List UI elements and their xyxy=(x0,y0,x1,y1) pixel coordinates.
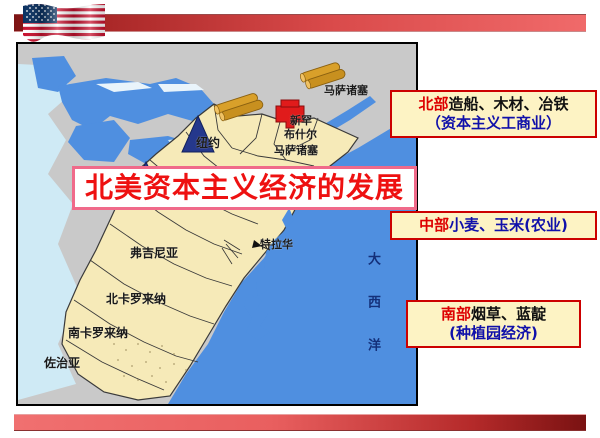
map-label-south-carolina: 南卡罗来纳 xyxy=(68,324,128,341)
callout-south: 南部烟草、蓝靛 (种植园经济) xyxy=(406,300,581,348)
callout-north-line1: 北部造船、木材、冶铁 xyxy=(396,95,591,114)
map-label-north-carolina: 北卡罗来纳 xyxy=(106,290,166,307)
page-title: 北美资本主义经济的发展 xyxy=(85,174,404,202)
bottom-decor-bar xyxy=(14,414,586,431)
callout-middle: 中部小麦、玉米(农业) xyxy=(390,211,597,240)
map-label-new-york: 纽约 xyxy=(196,134,220,151)
callout-north-region: 北部 xyxy=(418,95,448,113)
callout-middle-line1: 中部小麦、玉米(农业) xyxy=(396,216,591,235)
map-label-massachusetts-south: 马萨诸塞 xyxy=(274,142,318,158)
callout-south-region: 南部 xyxy=(441,305,471,323)
map-label-georgia: 佐治亚 xyxy=(44,354,80,371)
us-flag-svg xyxy=(23,2,105,42)
callout-south-note: (种植园经济) xyxy=(412,324,575,343)
map-label-massachusetts-north: 马萨诸塞 xyxy=(324,82,368,98)
callout-north-note: （资本主义工商业） xyxy=(396,114,591,133)
map-label-atlantic-ocean: 大西洋 xyxy=(350,252,394,381)
us-flag-icon xyxy=(23,2,105,42)
map-label-new-hampshire-line2: 布什尔 xyxy=(284,126,317,142)
map-label-delaware: 特拉华 xyxy=(260,236,293,252)
colonial-america-map: 马萨诸塞 新罕 布什尔 马萨诸塞 纽约 特拉华 弗吉尼亚 北卡罗来纳 南卡罗来纳… xyxy=(16,42,418,406)
callout-middle-detail: 小麦、玉米(农业) xyxy=(449,216,568,234)
callout-south-detail: 烟草、蓝靛 xyxy=(471,305,546,323)
callout-north: 北部造船、木材、冶铁 （资本主义工商业） xyxy=(390,90,597,138)
callout-south-line1: 南部烟草、蓝靛 xyxy=(412,305,575,324)
callout-north-detail: 造船、木材、冶铁 xyxy=(449,95,569,113)
callout-middle-region: 中部 xyxy=(419,216,449,234)
map-label-virginia: 弗吉尼亚 xyxy=(130,244,178,261)
slide-title-banner: 北美资本主义经济的发展 xyxy=(72,166,417,210)
